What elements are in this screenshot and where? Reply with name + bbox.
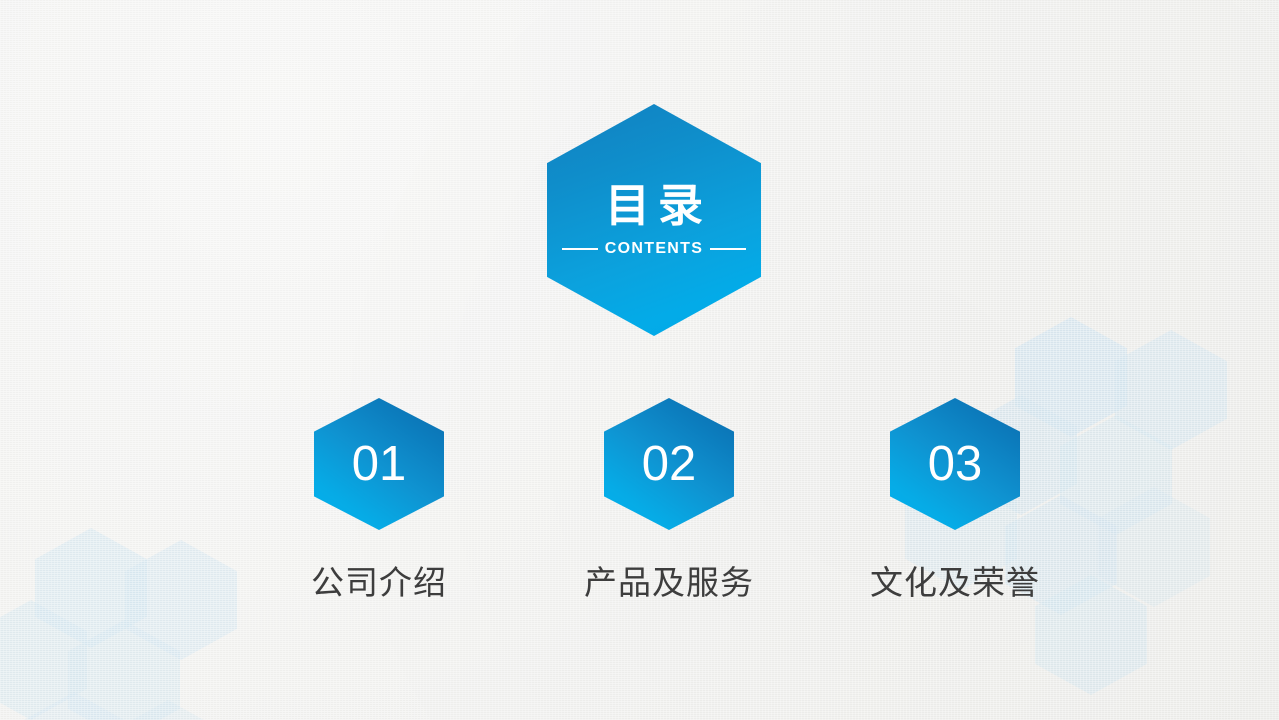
slide-canvas: 目录 CONTENTS 01 公司介绍 02 产品及服务 03 文化及荣誉: [0, 0, 1279, 720]
agenda-item-hexagon-02[interactable]: 02: [604, 398, 734, 530]
agenda-item-number-01: 01: [352, 440, 407, 489]
contents-subtitle: CONTENTS: [605, 241, 703, 257]
contents-title-hexagon: 目录 CONTENTS: [547, 104, 761, 336]
agenda-item-label-03[interactable]: 文化及荣誉: [825, 556, 1085, 604]
agenda-item-label-02[interactable]: 产品及服务: [539, 556, 799, 604]
agenda-item-hexagon-01[interactable]: 01: [314, 398, 444, 530]
agenda-item-number-02: 02: [642, 440, 697, 489]
contents-title: 目录: [597, 183, 711, 228]
rule-right-icon: [710, 248, 746, 250]
contents-subtitle-row: CONTENTS: [562, 241, 746, 257]
agenda-item-number-03: 03: [928, 440, 983, 489]
rule-left-icon: [562, 248, 598, 250]
agenda-item-label-01[interactable]: 公司介绍: [249, 556, 509, 604]
